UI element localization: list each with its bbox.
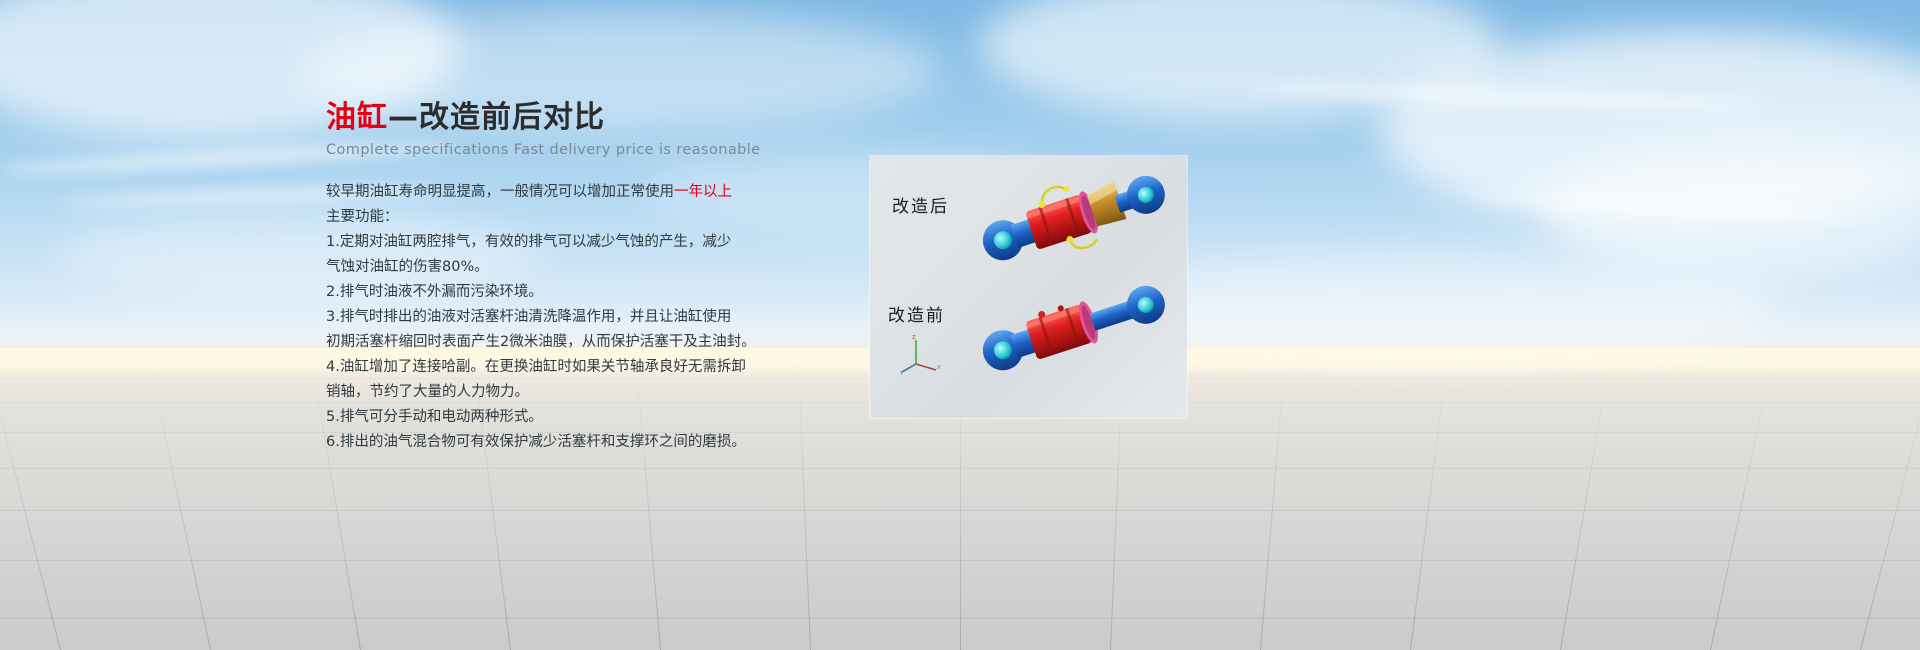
intro-line: 较早期油缸寿命明显提高，一般情况可以增加正常使用一年以上 (326, 180, 846, 205)
feature-line: 气蚀对油缸的伤害80%。 (326, 255, 846, 280)
feature-line: 4.油缸增加了连接哈副。在更换油缸时如果关节轴承良好无需拆卸 (326, 355, 846, 380)
pavement-line (1410, 362, 1447, 650)
intro-text: 较早期油缸寿命明显提高，一般情况可以增加正常使用 (326, 184, 674, 200)
page-title-dark: —改造前后对比 (388, 100, 605, 135)
cloud-decoration (1540, 140, 1920, 280)
pavement-line (1560, 364, 1609, 650)
cylinder-render-after (978, 164, 1178, 274)
pavement-line (150, 366, 211, 650)
pavement-line (1260, 361, 1285, 650)
feature-line: 销轴，节约了大量的人力物力。 (326, 380, 846, 405)
feature-line: 6.排出的油气混合物可有效保护减少活塞杆和支撑环之间的磨损。 (326, 430, 846, 455)
features-heading: 主要功能： (326, 205, 846, 230)
cloud-streak (1250, 81, 1770, 113)
product-image-panel: 改造后 改造前 (870, 156, 1187, 418)
label-before-modification: 改造前 (888, 301, 945, 326)
cylinder-render-before (978, 274, 1178, 384)
intro-highlight: 一年以上 (674, 184, 732, 200)
cloud-decoration (1380, 30, 1920, 230)
page-subtitle: Complete specifications Fast delivery pr… (326, 142, 846, 158)
feature-text-block: 较早期油缸寿命明显提高，一般情况可以增加正常使用一年以上 主要功能： 1.定期对… (326, 180, 846, 455)
svg-text:Z: Z (912, 335, 916, 341)
banner-stage: 油缸—改造前后对比 Complete specifications Fast d… (0, 0, 1920, 650)
page-title: 油缸—改造前后对比 (326, 100, 846, 136)
page-title-red: 油缸 (326, 100, 388, 135)
feature-line: 2.排气时油液不外漏而污染环境。 (326, 280, 846, 305)
cloud-decoration (980, 0, 1500, 120)
feature-line: 5.排气可分手动和电动两种形式。 (326, 405, 846, 430)
feature-line: 3.排气时排出的油液对活塞杆油清洗降温作用，并且让油缸使用 (326, 305, 846, 330)
pavement-line (1710, 366, 1771, 650)
feature-line: 1.定期对油缸两腔排气，有效的排气可以减少气蚀的产生，减少 (326, 230, 846, 255)
coordinate-axis-icon: Z X Y (900, 334, 942, 376)
svg-text:X: X (937, 365, 941, 371)
cloud-streak (1460, 190, 1860, 223)
banner-copy: 油缸—改造前后对比 Complete specifications Fast d… (326, 100, 846, 455)
feature-line: 初期活塞杆缩回时表面产生2微米油膜，从而保护活塞干及主油封。 (326, 330, 846, 355)
label-after-modification: 改造后 (892, 192, 949, 217)
